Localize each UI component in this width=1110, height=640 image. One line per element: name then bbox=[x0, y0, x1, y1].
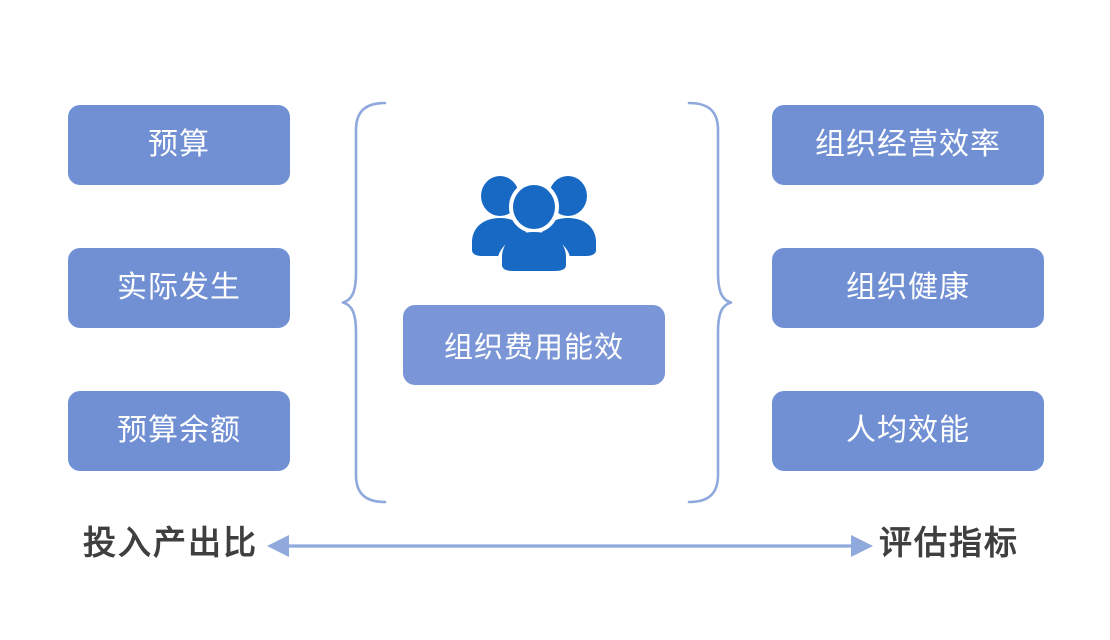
left-curly-brace bbox=[341, 100, 389, 505]
axis-label-input-output-ratio: 投入产出比 bbox=[83, 521, 258, 565]
right-item-per-capita-efficiency[interactable]: 人均效能 bbox=[772, 391, 1044, 471]
right-curly-brace bbox=[685, 100, 733, 505]
left-item-actual-label: 实际发生 bbox=[117, 273, 241, 303]
left-item-budget-balance-label: 预算余额 bbox=[117, 416, 241, 446]
center-node-label: 组织费用能效 bbox=[444, 324, 624, 366]
left-item-budget-label: 预算 bbox=[148, 130, 210, 160]
left-item-budget-balance[interactable]: 预算余额 bbox=[68, 391, 290, 471]
double-headed-arrow-icon bbox=[265, 528, 875, 564]
right-item-org-health[interactable]: 组织健康 bbox=[772, 248, 1044, 328]
people-group-icon bbox=[470, 172, 598, 276]
left-item-actual[interactable]: 实际发生 bbox=[68, 248, 290, 328]
right-item-per-capita-efficiency-label: 人均效能 bbox=[846, 416, 970, 446]
right-item-org-health-label: 组织健康 bbox=[846, 273, 970, 303]
center-node-org-cost-efficiency[interactable]: 组织费用能效 bbox=[403, 305, 665, 385]
right-item-org-operating-efficiency-label: 组织经营效率 bbox=[815, 130, 1001, 160]
right-item-org-operating-efficiency[interactable]: 组织经营效率 bbox=[772, 105, 1044, 185]
axis-label-evaluation-metrics: 评估指标 bbox=[879, 521, 1019, 565]
left-item-budget[interactable]: 预算 bbox=[68, 105, 290, 185]
diagram-canvas: 预算 实际发生 预算余额 bbox=[0, 0, 1110, 640]
